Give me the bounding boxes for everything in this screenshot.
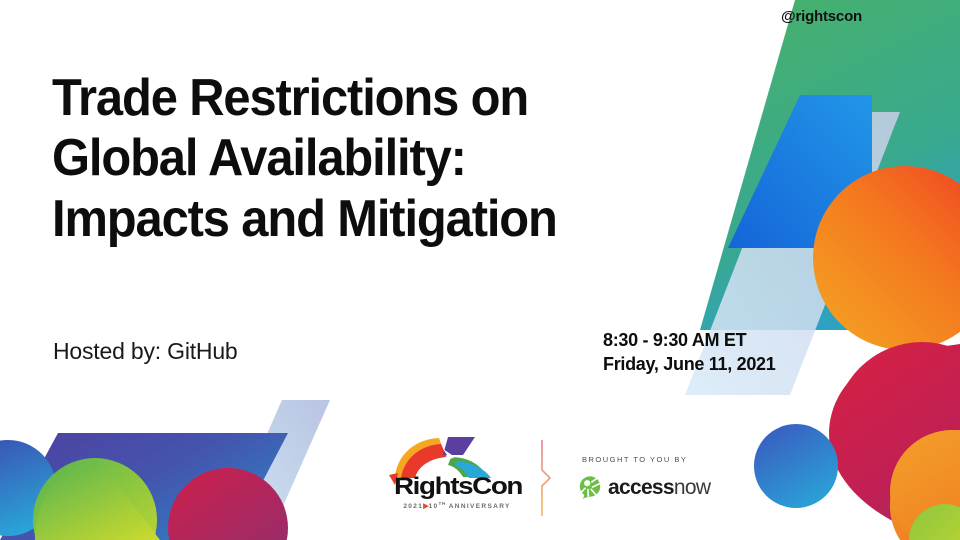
accessnow-globe-icon <box>578 475 602 499</box>
presentation-slide: @rightscon Trade Restrictions on Global … <box>0 0 960 540</box>
title-line-1: Trade Restrictions on <box>52 68 654 128</box>
page-title: Trade Restrictions on Global Availabilit… <box>52 68 654 249</box>
anniversary-ordinal: TH <box>439 501 446 506</box>
anniversary-year: 2021 <box>403 503 423 510</box>
logo-divider <box>525 432 565 522</box>
brought-to-you-by-label: BROUGHT TO YOU BY <box>582 455 687 464</box>
session-schedule: 8:30 - 9:30 AM ET Friday, June 11, 2021 <box>603 328 775 377</box>
footer-logos: RightsCon 2021▶10TH ANNIVERSARY <box>385 432 715 522</box>
accessnow-lockup: accessnow <box>578 475 710 499</box>
accessnow-name-bold: access <box>608 476 674 499</box>
anniversary-label: ANNIVERSARY <box>449 503 511 510</box>
hosted-by-label: Hosted by: GitHub <box>53 338 238 365</box>
session-time: 8:30 - 9:30 AM ET <box>603 328 775 352</box>
rightscon-anniversary-text: 2021▶10TH ANNIVERSARY <box>389 501 525 510</box>
session-date: Friday, June 11, 2021 <box>603 352 775 376</box>
accessnow-wordmark: accessnow <box>608 477 710 498</box>
svg-text:RightsCon: RightsCon <box>394 473 523 499</box>
anniversary-number: 10 <box>429 503 439 510</box>
accessnow-name-light: now <box>674 476 710 499</box>
rightscon-logo: RightsCon 2021▶10TH ANNIVERSARY <box>385 433 525 521</box>
rightscon-wordmark: RightsCon <box>389 473 525 499</box>
title-line-3: Impacts and Mitigation <box>52 189 654 249</box>
title-line-2: Global Availability: <box>52 128 654 188</box>
divider-icon <box>525 432 565 522</box>
accessnow-logo: BROUGHT TO YOU BY accessnow <box>565 433 715 521</box>
social-handle: @rightscon <box>781 8 862 25</box>
slide-content: @rightscon Trade Restrictions on Global … <box>0 0 960 540</box>
